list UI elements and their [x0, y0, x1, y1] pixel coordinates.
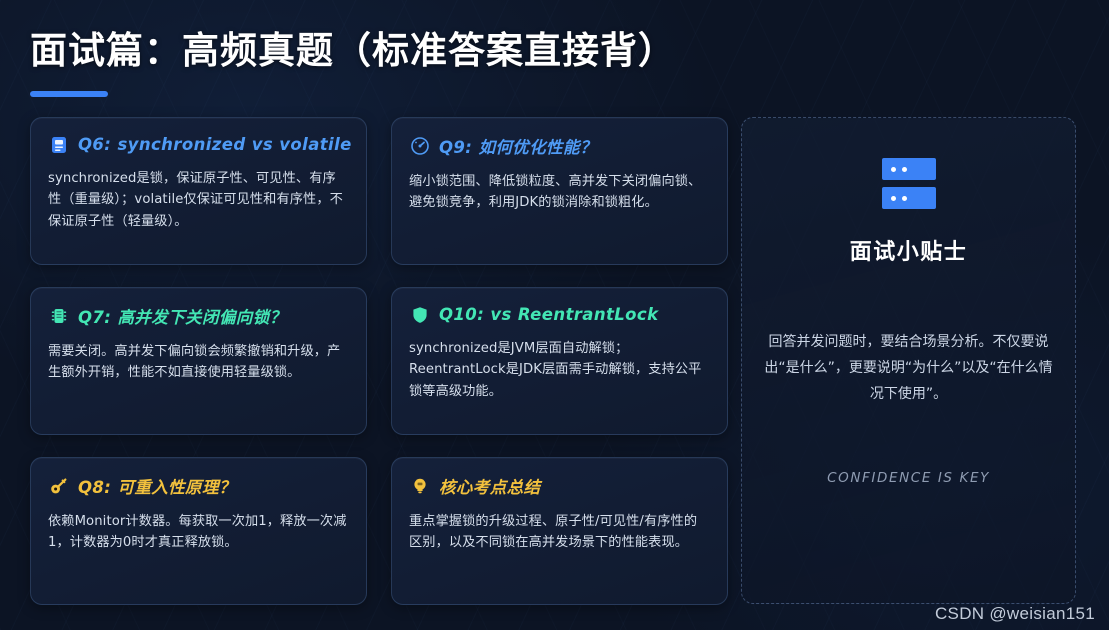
- key-icon: [48, 476, 69, 497]
- card-title: Q9: 如何优化性能？: [439, 134, 597, 158]
- card-body: 重点掌握锁的升级过程、原子性/可见性/有序性的区别，以及不同锁在高并发场景下的性…: [409, 511, 710, 554]
- card-header: Q8: 可重入性原理？: [48, 474, 349, 498]
- qa-card[interactable]: 核心考点总结 重点掌握锁的升级过程、原子性/可见性/有序性的区别，以及不同锁在高…: [391, 457, 728, 605]
- sidebar-body: 回答并发问题时，要结合场景分析。不仅要说出“是什么”，更要说明“为什么”以及“在…: [764, 330, 1053, 408]
- title-accent-bar: [30, 91, 108, 97]
- server-bar-top: [882, 158, 936, 180]
- card-body: 依赖Monitor计数器。每获取一次加1，释放一次减1，计数器为0时才真正释放锁…: [48, 511, 349, 554]
- document-icon: [48, 134, 69, 155]
- sidebar-title: 面试小贴士: [764, 234, 1053, 266]
- interview-tips-panel: 面试小贴士 回答并发问题时，要结合场景分析。不仅要说出“是什么”，更要说明“为什…: [741, 117, 1076, 604]
- qa-card[interactable]: Q10: vs ReentrantLock synchronized是JVM层面…: [391, 287, 728, 435]
- watermark: CSDN @weisian151: [935, 604, 1095, 624]
- qa-card[interactable]: Q9: 如何优化性能？ 缩小锁范围、降低锁粒度、高并发下关闭偏向锁、避免锁竞争，…: [391, 117, 728, 265]
- card-title: Q10: vs ReentrantLock: [439, 305, 658, 324]
- server-dot: [891, 167, 896, 172]
- server-dot: [902, 167, 907, 172]
- slide-root: 面试篇：高频真题（标准答案直接背） Q6: synchronized vs vo…: [0, 0, 1109, 630]
- card-title: Q8: 可重入性原理？: [78, 474, 236, 498]
- card-header: Q7: 高并发下关闭偏向锁？: [48, 304, 349, 328]
- card-header: 核心考点总结: [409, 474, 710, 498]
- chip-icon: [48, 306, 69, 327]
- card-title: Q6: synchronized vs volatile: [78, 135, 352, 154]
- gauge-icon: [409, 136, 430, 157]
- lightbulb-icon: [409, 476, 430, 497]
- card-body: 需要关闭。高并发下偏向锁会频繁撤销和升级，产生额外开销，性能不如直接使用轻量级锁…: [48, 341, 349, 384]
- server-icon: [882, 158, 936, 209]
- server-dot: [902, 196, 907, 201]
- card-body: synchronized是JVM层面自动解锁；ReentrantLock是JDK…: [409, 338, 710, 402]
- server-bar-bottom: [882, 187, 936, 209]
- header: 面试篇：高频真题（标准答案直接背）: [30, 20, 676, 97]
- card-header: Q9: 如何优化性能？: [409, 134, 710, 158]
- sidebar-motto: CONFIDENCE IS KEY: [764, 470, 1053, 486]
- card-title: 核心考点总结: [439, 474, 540, 498]
- shield-icon: [409, 304, 430, 325]
- card-header: Q10: vs ReentrantLock: [409, 304, 710, 325]
- card-title: Q7: 高并发下关闭偏向锁？: [78, 304, 286, 328]
- qa-card-grid: Q6: synchronized vs volatile synchronize…: [30, 117, 728, 605]
- card-header: Q6: synchronized vs volatile: [48, 134, 349, 155]
- qa-card[interactable]: Q8: 可重入性原理？ 依赖Monitor计数器。每获取一次加1，释放一次减1，…: [30, 457, 367, 605]
- card-body: 缩小锁范围、降低锁粒度、高并发下关闭偏向锁、避免锁竞争，利用JDK的锁消除和锁粗…: [409, 171, 710, 214]
- page-title: 面试篇：高频真题（标准答案直接背）: [30, 20, 676, 74]
- server-dot: [891, 196, 896, 201]
- card-body: synchronized是锁，保证原子性、可见性、有序性（重量级）；volati…: [48, 168, 349, 232]
- qa-card[interactable]: Q7: 高并发下关闭偏向锁？ 需要关闭。高并发下偏向锁会频繁撤销和升级，产生额外…: [30, 287, 367, 435]
- qa-card[interactable]: Q6: synchronized vs volatile synchronize…: [30, 117, 367, 265]
